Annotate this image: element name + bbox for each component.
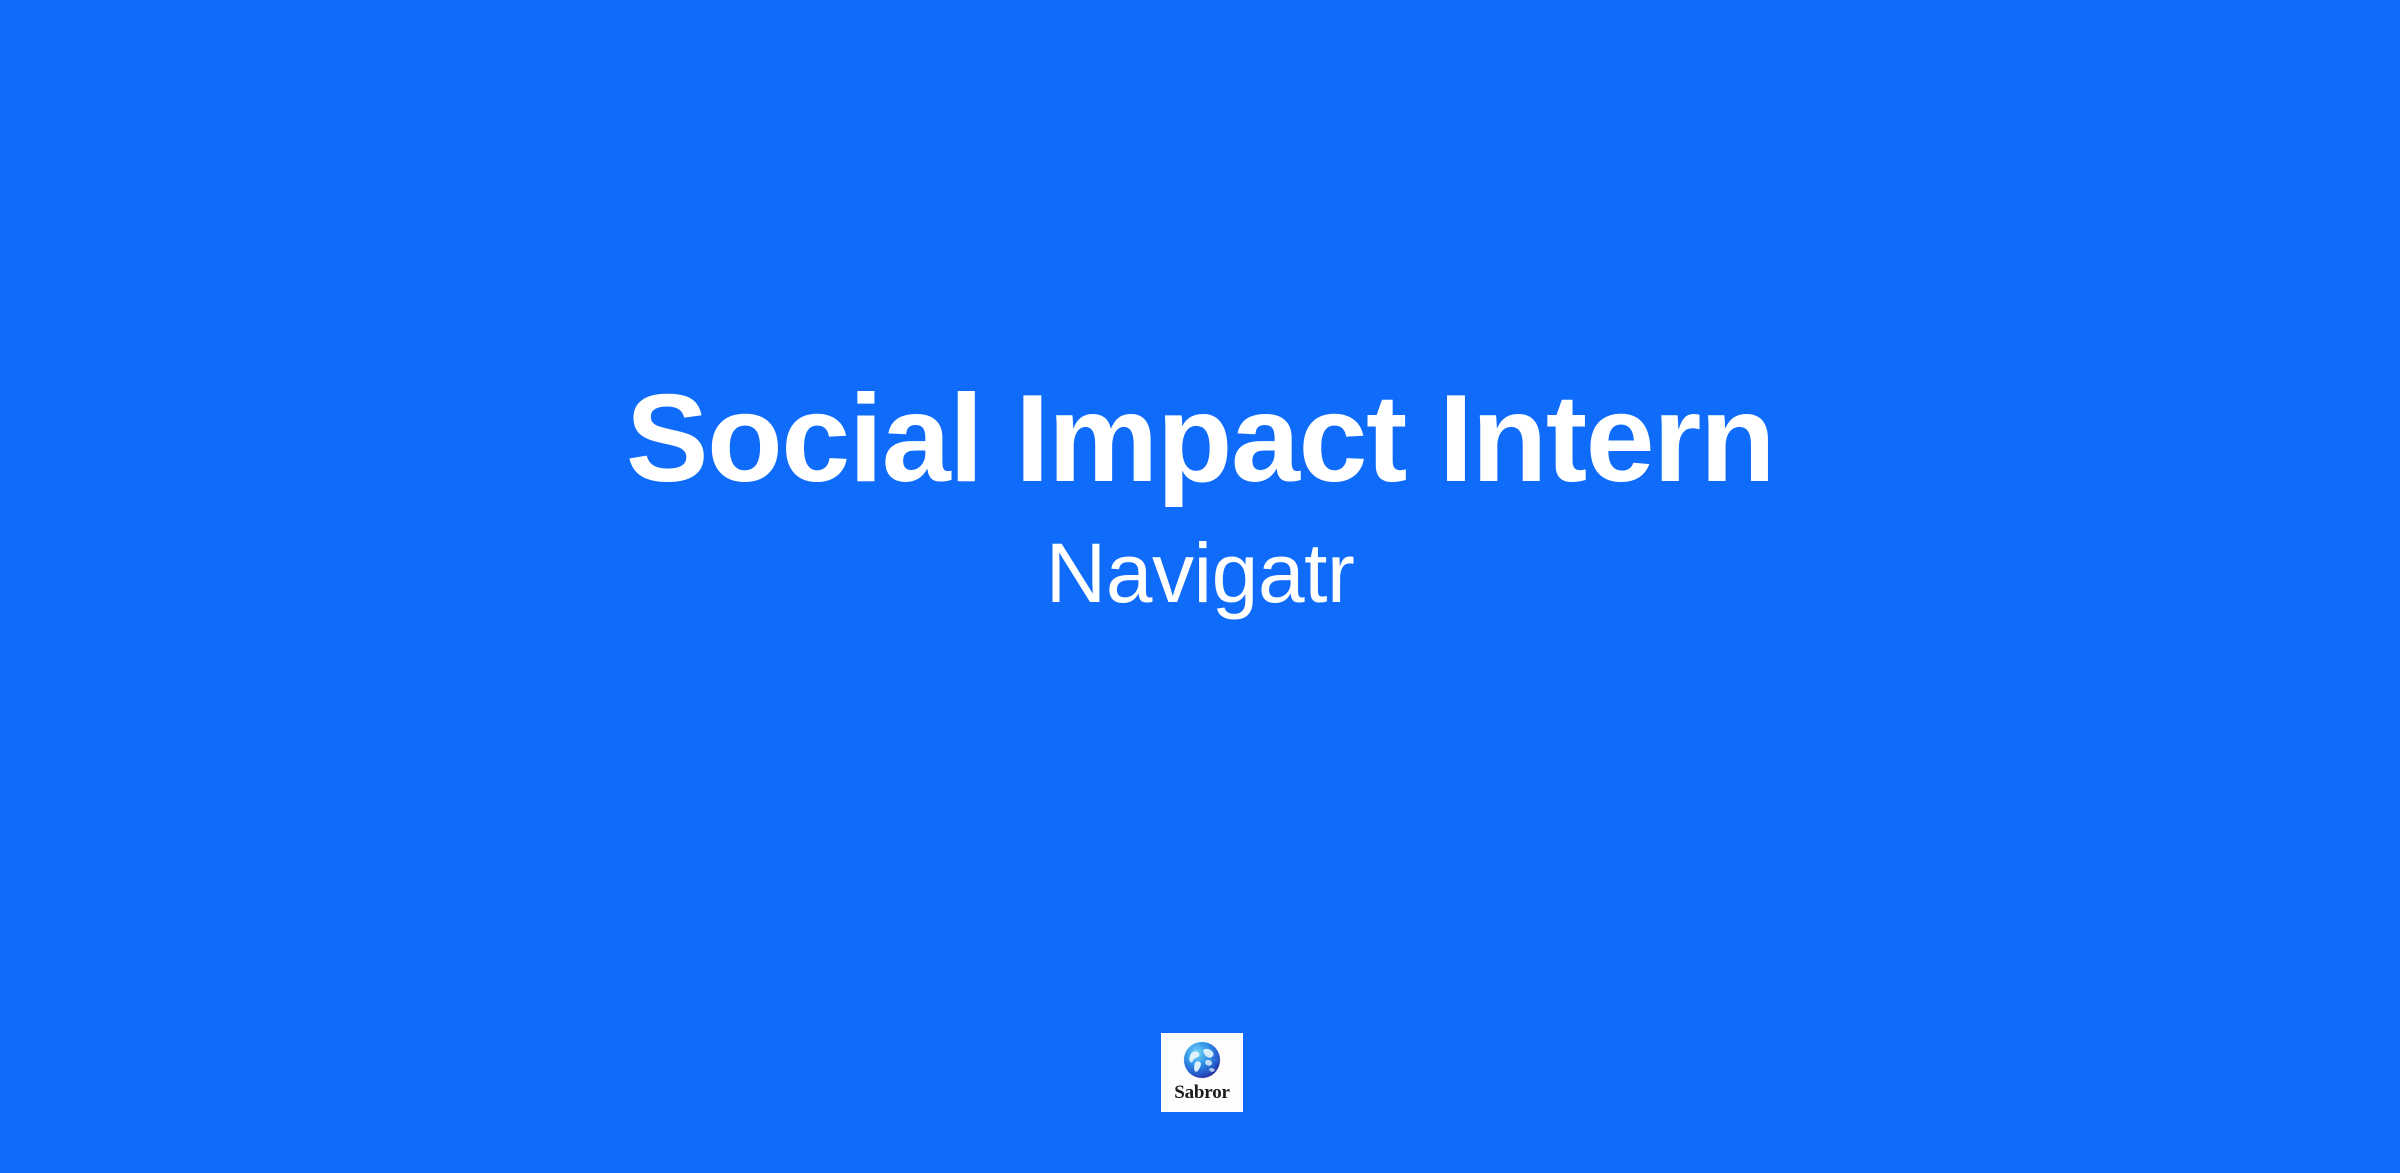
title-slide: Social Impact Intern Navigatr	[0, 0, 2400, 1173]
page-title: Social Impact Intern	[626, 374, 1774, 505]
brand-name: Sabror	[1174, 1083, 1229, 1102]
hero-text-block: Social Impact Intern Navigatr	[0, 0, 2400, 1173]
page-subtitle: Navigatr	[1046, 527, 1355, 619]
brand-logo: Sabror	[1161, 1033, 1243, 1112]
globe-icon	[1182, 1040, 1222, 1080]
